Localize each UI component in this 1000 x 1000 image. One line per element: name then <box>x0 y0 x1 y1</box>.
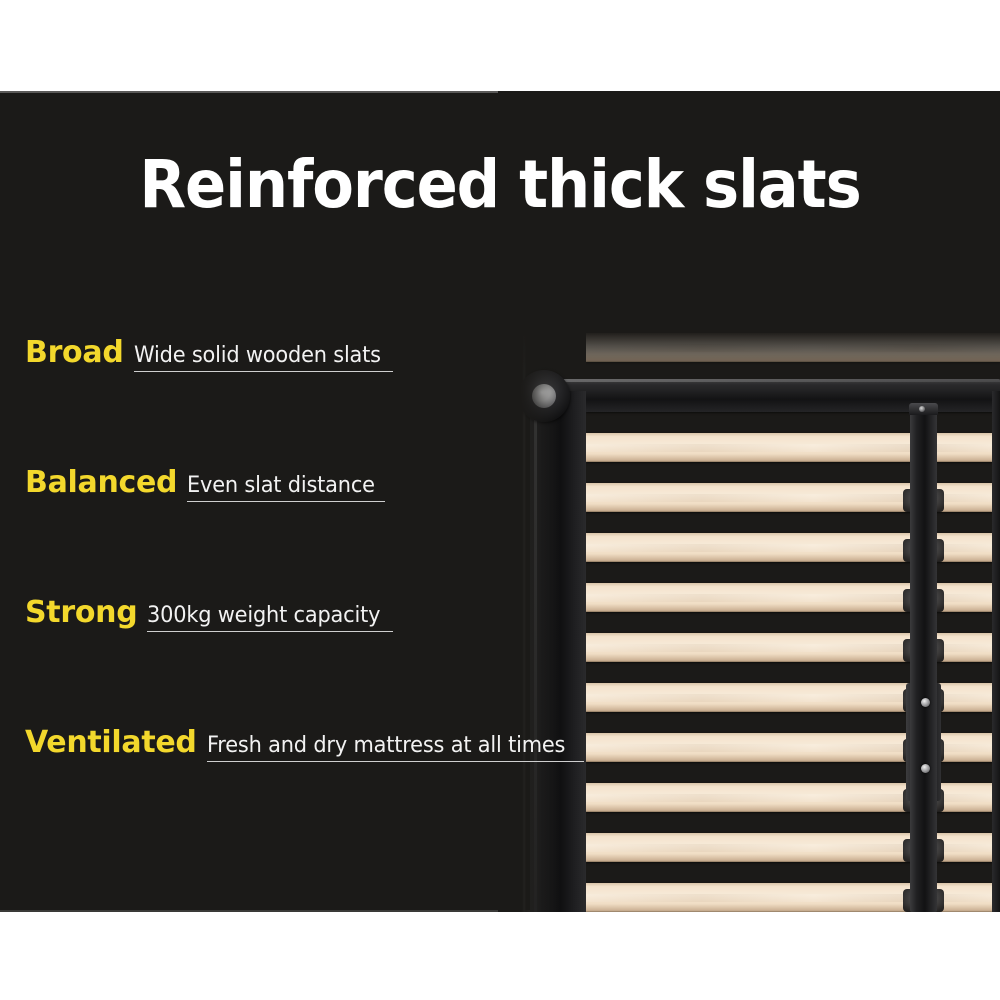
feature-item-broad: Broad Wide solid wooden slats <box>25 335 545 465</box>
beam-cap-screw-icon <box>919 406 925 412</box>
feature-description: Even slat distance <box>187 473 375 498</box>
feature-description: 300kg weight capacity <box>147 603 380 628</box>
centre-support-beam <box>910 409 937 912</box>
feature-item-ventilated: Ventilated Fresh and dry mattress at all… <box>25 725 545 855</box>
feature-description-underline: 300kg weight capacity <box>147 603 393 632</box>
feature-list: Broad Wide solid wooden slats Balanced E… <box>25 335 545 855</box>
feature-label: Ventilated <box>25 725 197 760</box>
feature-item-strong: Strong 300kg weight capacity <box>25 595 545 725</box>
beam-screw-icon <box>921 698 930 707</box>
wooden-slat <box>586 333 1000 362</box>
feature-description-underline: Fresh and dry mattress at all times <box>207 733 584 762</box>
feature-label: Balanced <box>25 465 177 500</box>
beam-screw-icon <box>921 764 930 773</box>
feature-label: Broad <box>25 335 124 370</box>
frame-top-rail-highlight <box>528 379 1000 382</box>
wooden-slat <box>586 233 1000 262</box>
dark-feature-panel: Reinforced thick slats Broad Wide solid … <box>0 91 1000 912</box>
page-title: Reinforced thick slats <box>40 152 960 218</box>
product-feature-banner: Reinforced thick slats Broad Wide solid … <box>0 0 1000 1000</box>
feature-label: Strong <box>25 595 137 630</box>
wooden-slat <box>586 433 1000 462</box>
feature-description-underline: Even slat distance <box>187 473 385 502</box>
feature-item-balanced: Balanced Even slat distance <box>25 465 545 595</box>
wooden-slat <box>586 283 1000 312</box>
feature-description: Fresh and dry mattress at all times <box>207 733 565 758</box>
feature-description-underline: Wide solid wooden slats <box>134 343 394 372</box>
feature-description: Wide solid wooden slats <box>134 343 381 368</box>
frame-right-side-rail <box>992 391 1000 912</box>
